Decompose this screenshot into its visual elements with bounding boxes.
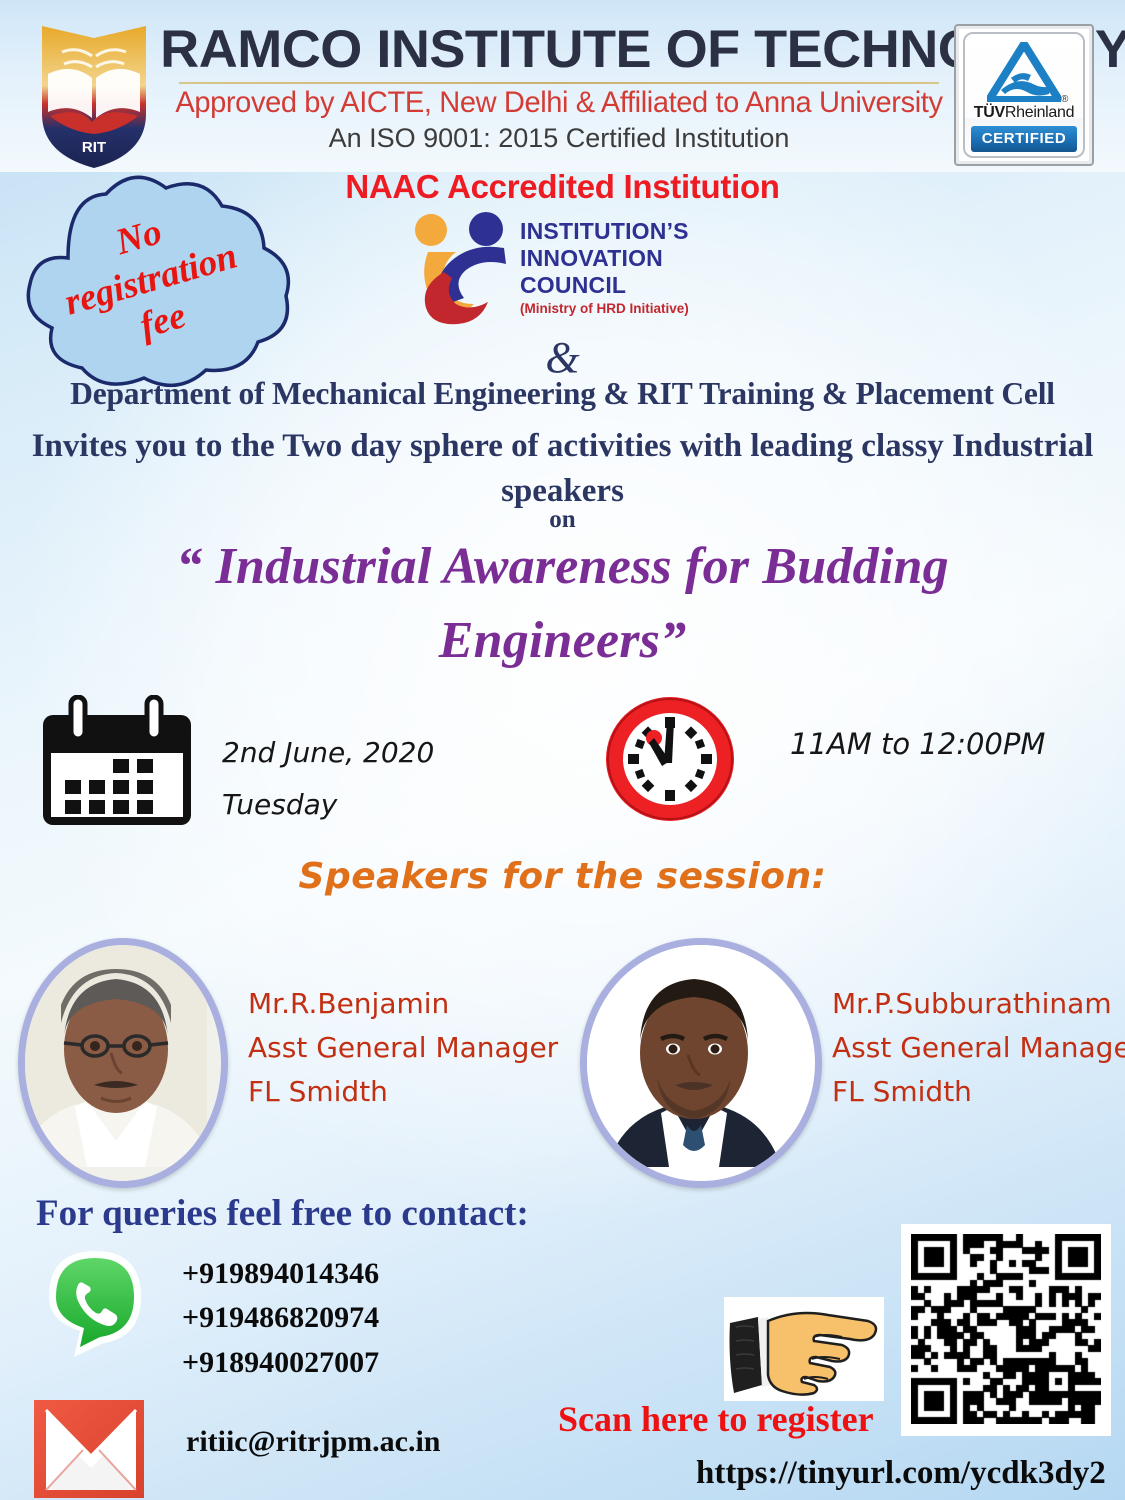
rit-crest-logo: RIT [38,22,150,170]
tuv-brand-rheinland: Rheinland [1005,104,1074,121]
event-poster: RIT RAMCO INSTITUTE OF TECHNOLOGY Approv… [0,0,1125,1500]
speaker-info: Mr.P.Subburathinam Asst General Manager … [832,982,1125,1115]
speaker-name: Mr.R.Benjamin [248,982,558,1026]
iic-ministry-note: (Ministry of HRD Initiative) [520,301,689,316]
iic-line-2: INNOVATION [520,245,689,272]
department-line: Department of Mechanical Engineering & R… [0,376,1125,412]
event-day: Tuesday [222,779,434,831]
speakers-section-heading: Speakers for the session: [0,856,1125,897]
gmail-icon [30,1398,152,1500]
tuv-rheinland-certified-badge: ® TÜVRheinland CERTIFIED [954,24,1094,166]
pointing-hand-icon [724,1297,884,1406]
speaker-company: FL Smidth [832,1070,1125,1114]
speaker-photo [580,938,822,1188]
whatsapp-icon [38,1245,152,1364]
calendar-icon [37,695,197,835]
contact-phone-list: +919894014346 +919486820974 +91894002700… [182,1252,379,1385]
phone-number[interactable]: +918940027007 [182,1341,379,1385]
speaker-designation: Asst General Manager [832,1026,1125,1070]
phone-number[interactable]: +919894014346 [182,1252,379,1296]
iic-wordmark: INSTITUTION’S INNOVATION COUNCIL (Minist… [520,218,689,316]
speaker-photo [18,938,228,1188]
iic-line-3: COUNCIL [520,272,689,299]
header-text-block: RAMCO INSTITUTE OF TECHNOLOGY Approved b… [168,22,950,153]
iic-logo-block: INSTITUTION’S INNOVATION COUNCIL (Minist… [404,212,734,330]
tuv-brand-text: TÜVRheinland [965,104,1083,122]
contact-heading: For queries feel free to contact: [36,1192,529,1235]
contact-email[interactable]: ritiic@ritrjpm.ac.in [186,1425,441,1459]
speaker-name: Mr.P.Subburathinam [832,982,1125,1026]
tuv-brand-tuv: TÜV [974,104,1005,121]
tuv-triangle-icon [987,42,1061,107]
event-title: “ Industrial Awareness for Budding Engin… [70,530,1055,678]
speaker-designation: Asst General Manager [248,1026,558,1070]
approval-line: Approved by AICTE, New Delhi & Affiliate… [174,87,944,119]
iic-figure-icon [404,212,514,332]
qr-code-canvas[interactable] [911,1234,1101,1424]
registration-qr-code[interactable] [901,1224,1111,1436]
phone-number[interactable]: +919486820974 [182,1296,379,1340]
invitation-line: Invites you to the Two day sphere of act… [0,424,1125,514]
iso-certification-line: An ISO 9001: 2015 Certified Institution [168,124,950,154]
iic-line-1: INSTITUTION’S [520,218,689,245]
college-name: RAMCO INSTITUTE OF TECHNOLOGY [160,22,958,78]
scan-to-register-label: Scan here to register [558,1398,874,1440]
speaker-company: FL Smidth [248,1070,558,1114]
header-divider [179,82,939,84]
event-time: 11AM to 12:00PM [790,727,1045,761]
speaker-info: Mr.R.Benjamin Asst General Manager FL Sm… [248,982,558,1115]
event-date-block: 2nd June, 2020 Tuesday [222,727,434,831]
tuv-badge-inner: ® TÜVRheinland CERTIFIED [963,32,1085,158]
clock-icon [600,693,740,831]
event-date: 2nd June, 2020 [222,727,434,779]
registration-url[interactable]: https://tinyurl.com/ycdk3dy2 [696,1455,1106,1492]
tuv-certified-label: CERTIFIED [971,126,1077,152]
svg-text:RIT: RIT [82,139,106,156]
